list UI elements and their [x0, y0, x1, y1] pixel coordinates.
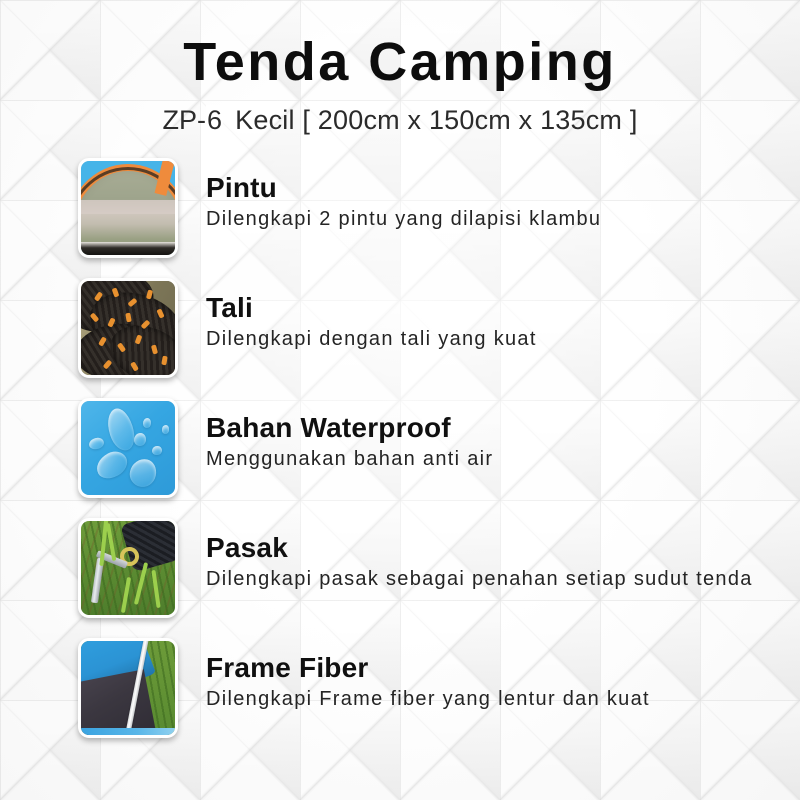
poster-header: Tenda Camping ZP-6 Kecil [ 200cm x 150cm…: [0, 0, 800, 136]
feature-row-frame-fiber: Frame Fiber Dilengkapi Frame fiber yang …: [0, 638, 800, 758]
feature-title: Tali: [206, 292, 537, 323]
feature-title: Bahan Waterproof: [206, 412, 493, 443]
feature-description: Dilengkapi 2 pintu yang dilapisi klambu: [206, 207, 601, 233]
size-label: Kecil [ 200cm x 150cm x 135cm ]: [235, 105, 637, 136]
feature-description: Dilengkapi Frame fiber yang lentur dan k…: [206, 687, 650, 713]
model-subtitle: ZP-6 Kecil [ 200cm x 150cm x 135cm ]: [0, 105, 800, 136]
thumbnail-rope: [78, 278, 178, 378]
thumbnail-tent-door: [78, 158, 178, 258]
feature-title: Pintu: [206, 172, 601, 203]
feature-description: Dilengkapi dengan tali yang kuat: [206, 327, 537, 353]
page-title: Tenda Camping: [0, 34, 800, 91]
model-code-number: 6: [206, 105, 223, 136]
feature-description: Dilengkapi pasak sebagai penahan setiap …: [206, 567, 753, 593]
model-code-prefix: ZP-: [162, 105, 206, 136]
feature-title: Pasak: [206, 532, 753, 563]
feature-row-waterproof: Bahan Waterproof Menggunakan bahan anti …: [0, 398, 800, 518]
feature-list: Pintu Dilengkapi 2 pintu yang dilapisi k…: [0, 158, 800, 758]
feature-row-pasak: Pasak Dilengkapi pasak sebagai penahan s…: [0, 518, 800, 638]
feature-row-tali: Tali Dilengkapi dengan tali yang kuat: [0, 278, 800, 398]
thumbnail-waterproof-fabric: [78, 398, 178, 498]
product-infographic-poster: Tenda Camping ZP-6 Kecil [ 200cm x 150cm…: [0, 0, 800, 800]
thumbnail-fiber-frame: [78, 638, 178, 738]
thumbnail-tent-peg: [78, 518, 178, 618]
feature-description: Menggunakan bahan anti air: [206, 447, 493, 473]
feature-title: Frame Fiber: [206, 652, 650, 683]
feature-row-pintu: Pintu Dilengkapi 2 pintu yang dilapisi k…: [0, 158, 800, 278]
